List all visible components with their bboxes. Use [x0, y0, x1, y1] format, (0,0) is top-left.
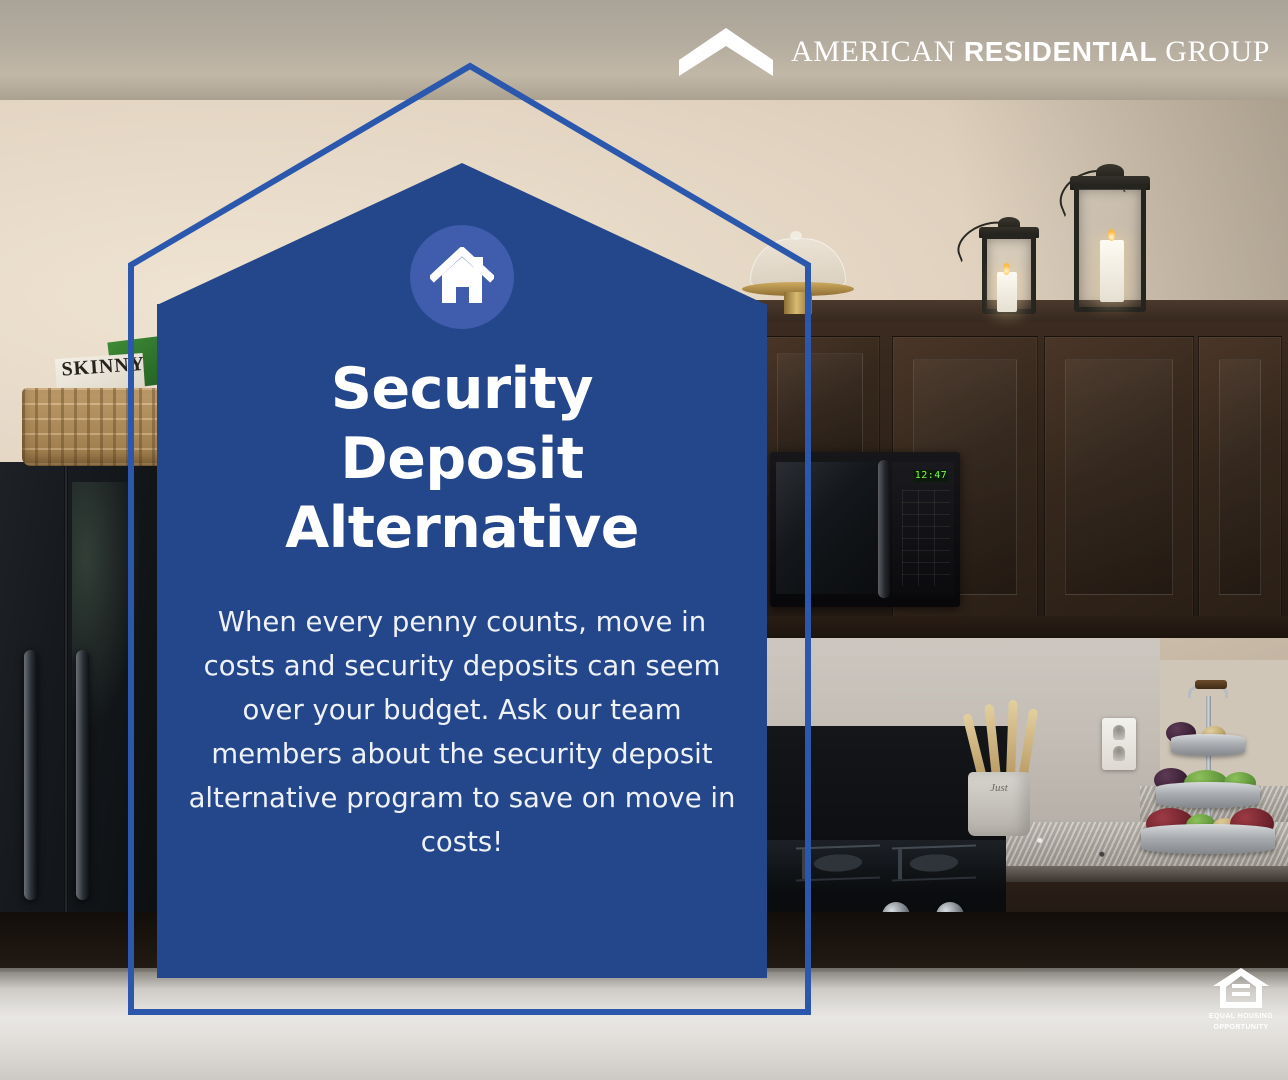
brand-logo: AMERICAN RESIDENTIAL GROUP	[679, 26, 1270, 78]
panel-content: Security Deposit Alternative When every …	[157, 163, 767, 978]
brand-name-american: AMERICAN	[791, 35, 956, 68]
headline-line-3: Alternative	[285, 494, 639, 564]
equal-housing-opportunity-logo: EQUAL HOUSING OPPORTUNITY	[1204, 966, 1278, 1032]
brand-name-group: GROUP	[1165, 35, 1270, 68]
eho-caption-line-1: EQUAL HOUSING	[1204, 1012, 1278, 1021]
equal-housing-house-icon	[1212, 966, 1270, 1010]
headline-line-2: Deposit	[285, 425, 639, 495]
poster-canvas: 12:47	[0, 0, 1288, 1080]
chevron-roof-mark-icon	[679, 26, 773, 78]
house-icon	[430, 247, 494, 307]
house-panel: Security Deposit Alternative When every …	[157, 163, 767, 978]
brand-name-residential: RESIDENTIAL	[964, 36, 1157, 67]
eho-caption-line-2: OPPORTUNITY	[1204, 1023, 1278, 1032]
brand-wordmark: AMERICAN RESIDENTIAL GROUP	[791, 35, 1270, 69]
body-copy: When every penny counts, move in costs a…	[182, 600, 742, 864]
headline-line-1: Security	[285, 355, 639, 425]
house-icon-badge	[410, 225, 514, 329]
headline: Security Deposit Alternative	[285, 355, 639, 564]
